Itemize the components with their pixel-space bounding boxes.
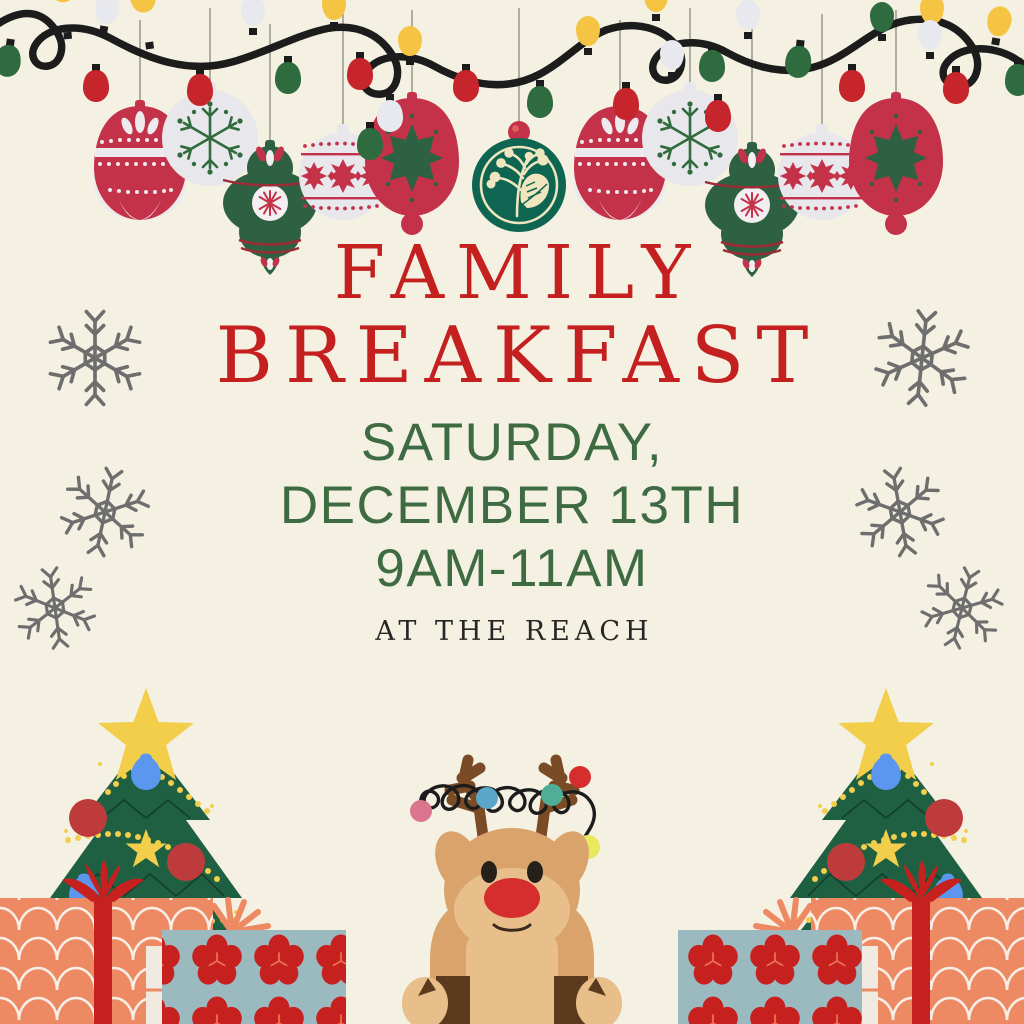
reindeer-leg-right <box>554 976 588 1024</box>
reindeer-eye-left <box>481 861 497 883</box>
reindeer-character <box>402 760 622 1024</box>
flyer-text-block: FAMILY BREAKFAST SATURDAY, DECEMBER 13TH… <box>0 238 1024 647</box>
white-ball-snowflake-ornament <box>162 82 738 186</box>
gift-coral-scallop-right <box>914 898 1024 950</box>
gift-bow-right <box>880 860 962 902</box>
page-title-line-1: FAMILY <box>0 238 1024 309</box>
event-venue: AT THE REACH <box>0 616 1024 647</box>
gift-blue-flower-right <box>678 930 862 1024</box>
event-time: 9AM-11AM <box>0 542 1024 596</box>
red-teardrop-dots-ornament <box>94 100 666 220</box>
tree-star-icon <box>98 688 194 780</box>
gift-stack-left <box>0 860 346 1024</box>
reindeer-hoof-left <box>402 977 448 1024</box>
reindeer-leg-left <box>436 976 470 1024</box>
gift-coral-scallop-left <box>0 898 110 950</box>
white-ball-nordic-ornament <box>299 124 866 220</box>
reindeer-hoof-right <box>576 977 622 1024</box>
gift-blue-flower-left <box>162 930 346 1024</box>
page-title-line-2: BREAKFAST <box>0 319 1024 394</box>
reindeer-nose <box>484 878 540 918</box>
green-medallion-ornament <box>472 121 566 232</box>
tree-star-icon <box>838 688 934 780</box>
string-lights-garland <box>0 0 1024 160</box>
ornament-threads <box>140 8 896 142</box>
gift-ribbon-right <box>912 898 930 1024</box>
gift-cream-bow-left <box>146 946 294 1024</box>
reindeer-ear-left <box>427 824 490 899</box>
antler-light-bulbs <box>410 766 600 859</box>
reindeer-belly <box>466 924 558 1024</box>
gift-cream-bow-right <box>730 946 878 1024</box>
reindeer-mouth <box>494 925 530 930</box>
gift-bow-left <box>62 860 144 902</box>
reindeer-ear-right <box>535 824 598 899</box>
antler-light-string <box>421 786 594 852</box>
tree-bauble <box>46 754 205 970</box>
gift-fan-left <box>214 900 268 932</box>
reindeer-muzzle <box>454 868 570 952</box>
reindeer-head <box>444 828 580 952</box>
holiday-flyer-poster: FAMILY BREAKFAST SATURDAY, DECEMBER 13TH… <box>0 0 1024 1024</box>
gift-fan-right <box>756 900 810 932</box>
reindeer-antlers <box>450 760 574 844</box>
tree-bauble <box>827 754 986 970</box>
gift-ribbon-left <box>94 898 112 1024</box>
red-teardrop-poinsettia-ornament <box>365 92 943 235</box>
gift-stack-right <box>678 860 1024 1024</box>
reindeer-eye-right <box>527 861 543 883</box>
event-date-line-1: SATURDAY, <box>0 416 1024 470</box>
reindeer-body <box>430 892 594 1024</box>
event-date-line-2: DECEMBER 13TH <box>0 479 1024 533</box>
christmas-tree-right <box>768 688 1004 972</box>
